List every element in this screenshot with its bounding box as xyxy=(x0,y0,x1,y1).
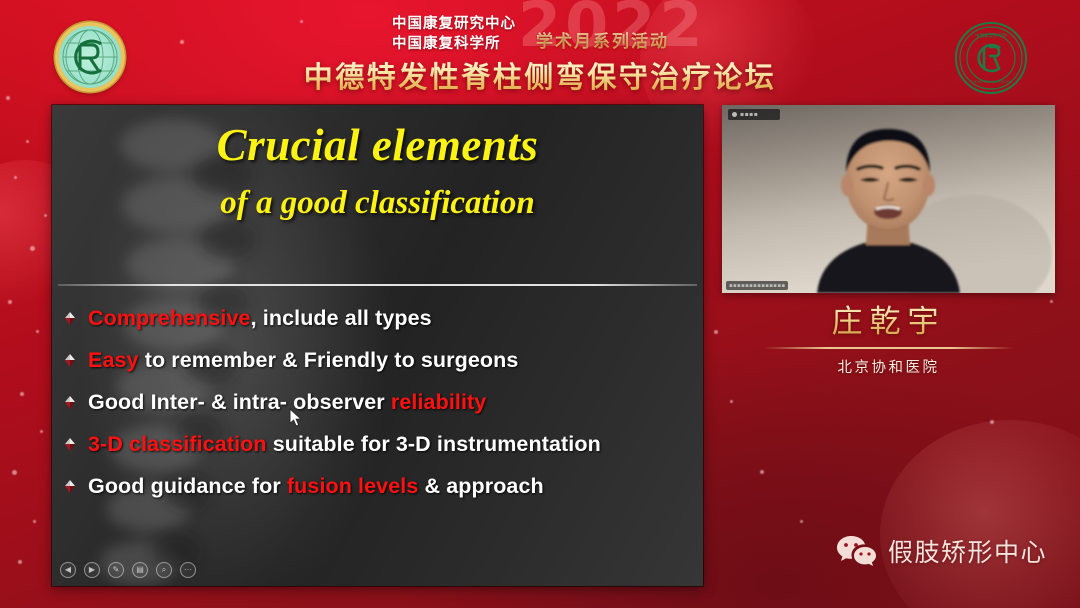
video-name-badge: ▪▪▪▪ xyxy=(728,109,780,120)
presenter-name: 庄乾宇 xyxy=(722,296,1055,341)
previous-slide-button[interactable]: ◀ xyxy=(60,562,76,578)
bullet-diamond-icon xyxy=(60,309,80,329)
watermark-label: 假肢矫形中心 xyxy=(888,533,1047,569)
slide-bullet-item: Easy to remember & Friendly to surgeons xyxy=(52,339,703,381)
page-title: 中德特发性脊柱侧弯保守治疗论坛 xyxy=(0,54,1080,96)
slide-bullet-text: 3-D classification suitable for 3-D inst… xyxy=(88,432,601,457)
event-header: 2022 中国康复研究中心 中国康复科学所 学术月系列活动 中德特发性脊柱侧弯保… xyxy=(0,0,1080,104)
channel-watermark: 假肢矫形中心 xyxy=(836,533,1047,569)
broadcast-screen: 2022 中国康复研究中心 中国康复科学所 学术月系列活动 中德特发性脊柱侧弯保… xyxy=(0,0,1080,608)
slide-bullet-item: Good Inter- & intra- observer reliabilit… xyxy=(52,381,703,423)
organizer-names: 中国康复研究中心 中国康复科学所 xyxy=(392,14,516,54)
organizer-line-2: 中国康复科学所 xyxy=(392,34,516,54)
series-label: 学术月系列活动 xyxy=(536,27,669,52)
bullet-diamond-icon xyxy=(60,477,80,497)
presenter-organization: 北京协和医院 xyxy=(722,356,1055,377)
slide-list-button[interactable]: ▤ xyxy=(132,562,148,578)
video-badge-label: ▪▪▪▪ xyxy=(740,111,758,118)
svg-text:中国康复科学所: 中国康复科学所 xyxy=(975,32,1008,39)
slide-bullet-text: Easy to remember & Friendly to surgeons xyxy=(88,348,518,373)
institute-logo: 中国康复科学所 CHINA REHABILITATION xyxy=(955,22,1027,94)
zoom-button[interactable]: ⌕ xyxy=(156,562,172,578)
slide-bullet-text: Good Inter- & intra- observer reliabilit… xyxy=(88,390,486,415)
slide-bullet-text: Comprehensive, include all types xyxy=(88,306,432,331)
bullet-diamond-icon xyxy=(60,393,80,413)
bullet-diamond-icon xyxy=(60,351,80,371)
pen-annotation-button[interactable]: ✎ xyxy=(108,562,124,578)
presenter-divider xyxy=(764,347,1014,349)
wechat-icon xyxy=(836,534,878,568)
organizer-line-1: 中国康复研究中心 xyxy=(392,14,516,34)
next-slide-button[interactable]: ▶ xyxy=(84,562,100,578)
presenter-webcam-image xyxy=(722,105,1055,293)
presenter-video-tile[interactable]: ▪▪▪▪ ▪▪▪▪▪▪▪▪▪▪▪▪▪▪ xyxy=(722,105,1055,293)
slide-bullet-item: Good guidance for fusion levels & approa… xyxy=(52,465,703,507)
decorative-blob xyxy=(880,420,1080,608)
slide-title: Crucial elements of a good classificatio… xyxy=(52,119,703,222)
mouse-cursor xyxy=(289,408,303,428)
video-badge-dot xyxy=(732,112,737,117)
slide-title-line-1: Crucial elements xyxy=(52,119,703,171)
video-status-strip: ▪▪▪▪▪▪▪▪▪▪▪▪▪▪ xyxy=(726,281,788,290)
presentation-slide[interactable]: Crucial elements of a good classificatio… xyxy=(52,105,703,586)
svg-text:CHINA REHABILITATION: CHINA REHABILITATION xyxy=(971,80,1011,84)
slide-toolbar[interactable]: ◀▶✎▤⌕··· xyxy=(60,562,196,578)
slide-bullet-list: Comprehensive, include all typesEasy to … xyxy=(52,297,703,507)
slide-bullet-text: Good guidance for fusion levels & approa… xyxy=(88,474,544,499)
more-options-button[interactable]: ··· xyxy=(180,562,196,578)
slide-bullet-item: 3-D classification suitable for 3-D inst… xyxy=(52,423,703,465)
china-rehabilitation-research-center-logo xyxy=(55,22,125,92)
presenter-info: 庄乾宇 北京协和医院 xyxy=(722,296,1055,377)
slide-title-line-2: of a good classification xyxy=(52,185,703,222)
bullet-diamond-icon xyxy=(60,435,80,455)
slide-bullet-item: Comprehensive, include all types xyxy=(52,297,703,339)
slide-divider-top xyxy=(58,284,697,286)
